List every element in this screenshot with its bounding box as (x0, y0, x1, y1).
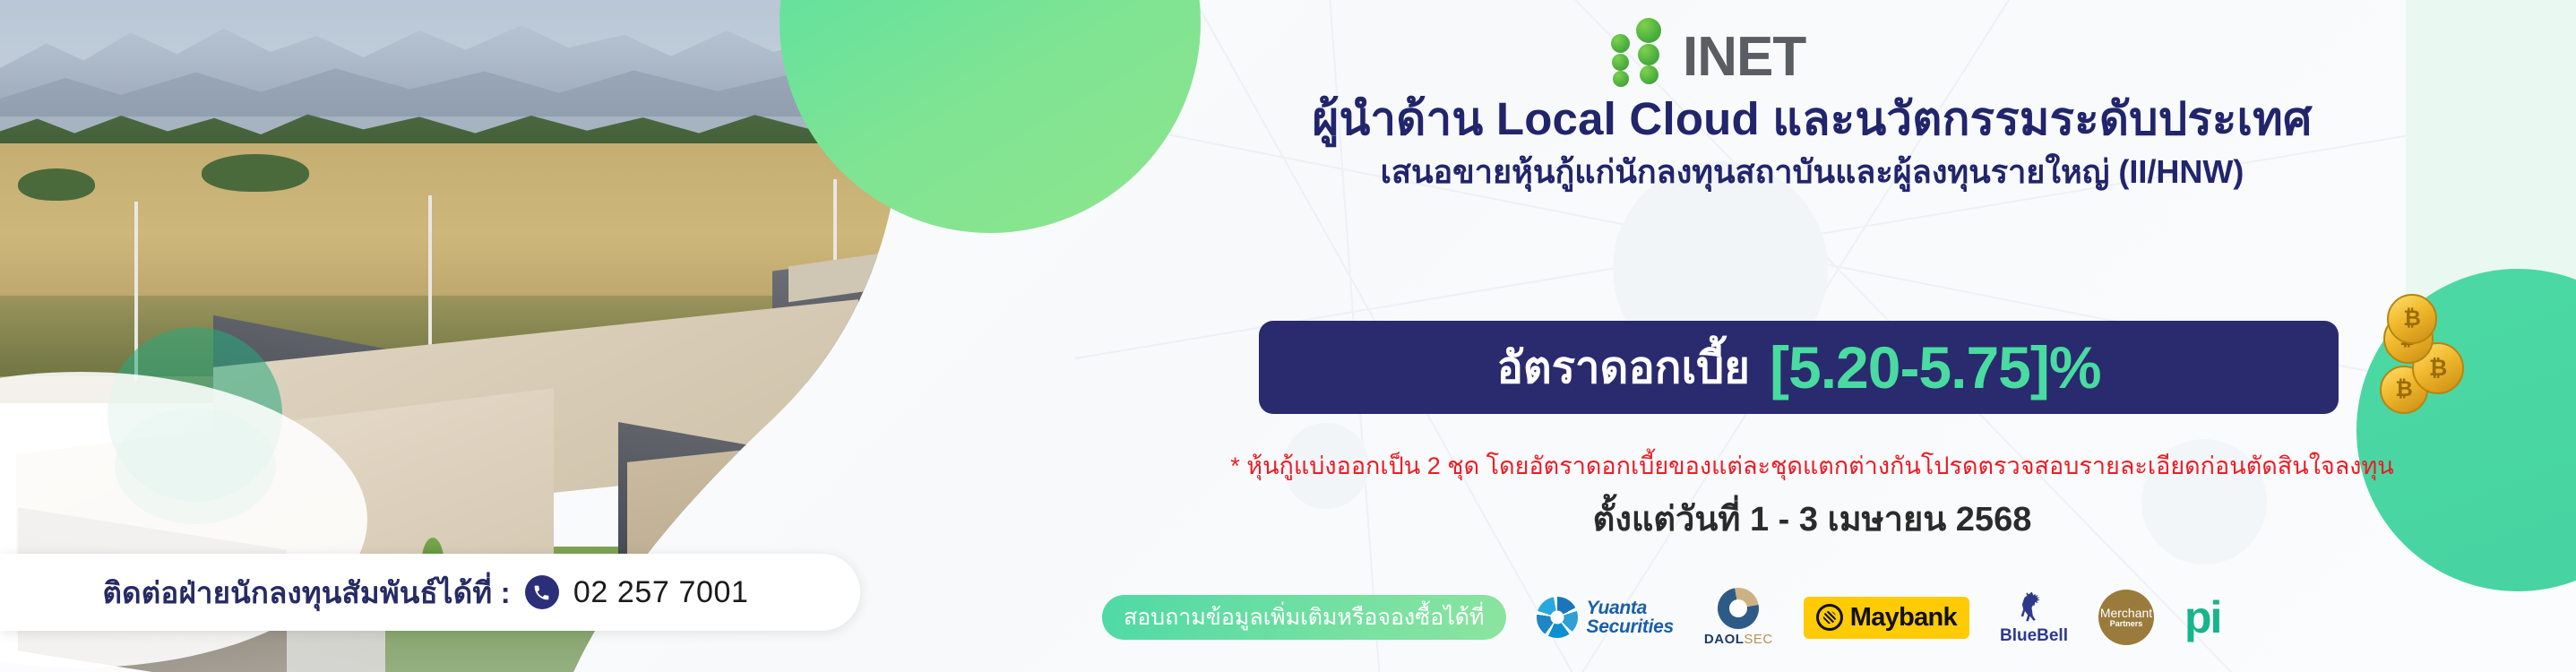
inet-logo: INET (1604, 16, 1805, 84)
page-subtitle: เสนอขายหุ้นกู้แก่นักลงทุนสถาบันและผู้ลงท… (1048, 146, 2576, 197)
inet-bond-offering-banner: ติดต่อฝ่ายนักลงทุนสัมพันธ์ได้ที่ : 02 25… (0, 0, 2576, 672)
inet-logo-text: INET (1683, 31, 1805, 84)
page-title: ผู้นำด้าน Local Cloud และนวัตกรรมระดับปร… (1048, 82, 2576, 155)
inet-dots-icon (1604, 16, 1674, 84)
partner-logo-bluebell[interactable]: BlueBell (2000, 589, 2068, 646)
bluebell-wordmark: BlueBell (2000, 626, 2068, 646)
contact-label: ติดต่อฝ่ายนักลงทุนสัมพันธ์ได้ที่ : (102, 569, 510, 616)
offer-date-range: ตั้งแต่วันที่ 1 - 3 เมษายน 2568 (1048, 491, 2576, 546)
partner-logo-merchant-partners[interactable]: Merchant Partners (2098, 590, 2154, 645)
pi-wordmark: pi (2184, 599, 2220, 635)
daol-line1: DAOL (1704, 632, 1745, 647)
bluebell-deer-icon (2016, 589, 2052, 625)
interest-rate-label: อัตราดอกเบี้ย (1496, 332, 1750, 402)
partners-row: สอบถามข้อมูลเพิ่มเติมหรือจองซื้อได้ที่ Y… (1102, 582, 2572, 652)
partner-logo-pi[interactable]: pi (2184, 599, 2220, 635)
merchant-line2: Partners (2110, 620, 2143, 628)
yuanta-star-icon (1537, 597, 1578, 638)
partner-logo-yuanta[interactable]: Yuanta Securities (1537, 597, 1674, 638)
contact-phone-number: 02 257 7001 (573, 575, 749, 610)
partner-logo-daol[interactable]: DAOLSEC (1704, 588, 1773, 647)
investor-relations-contact-card[interactable]: ติดต่อฝ่ายนักลงทุนสัมพันธ์ได้ที่ : 02 25… (0, 554, 860, 631)
phone-icon (525, 575, 559, 609)
yuanta-line2: Securities (1587, 617, 1674, 636)
partner-logo-maybank[interactable]: Maybank (1804, 597, 1969, 639)
bitcoin-coins-icon: ₿ ₿ ₿ ₿ (2356, 299, 2491, 425)
merchant-line1: Merchant (2100, 607, 2152, 620)
interest-rate-value: [5.20-5.75]% (1770, 333, 2101, 401)
photo-tree (18, 168, 95, 201)
offer-content: INET ผู้นำด้าน Local Cloud และนวัตกรรมระ… (1048, 0, 2576, 672)
daol-pie-icon (1718, 588, 1759, 629)
maybank-wordmark: Maybank (1850, 603, 1957, 633)
inquiry-cta-button[interactable]: สอบถามข้อมูลเพิ่มเติมหรือจองซื้อได้ที่ (1102, 595, 1506, 640)
maybank-tiger-icon (1816, 604, 1843, 631)
photo-tree (202, 154, 309, 192)
daol-line2: SEC (1744, 632, 1772, 647)
offer-disclaimer: * หุ้นกู้แบ่งออกเป็น 2 ชุด โดยอัตราดอกเบ… (1048, 446, 2576, 485)
yuanta-line1: Yuanta (1587, 599, 1674, 617)
interest-rate-bar: อัตราดอกเบี้ย [5.20-5.75]% ₿ ₿ ₿ ₿ (1259, 321, 2339, 414)
